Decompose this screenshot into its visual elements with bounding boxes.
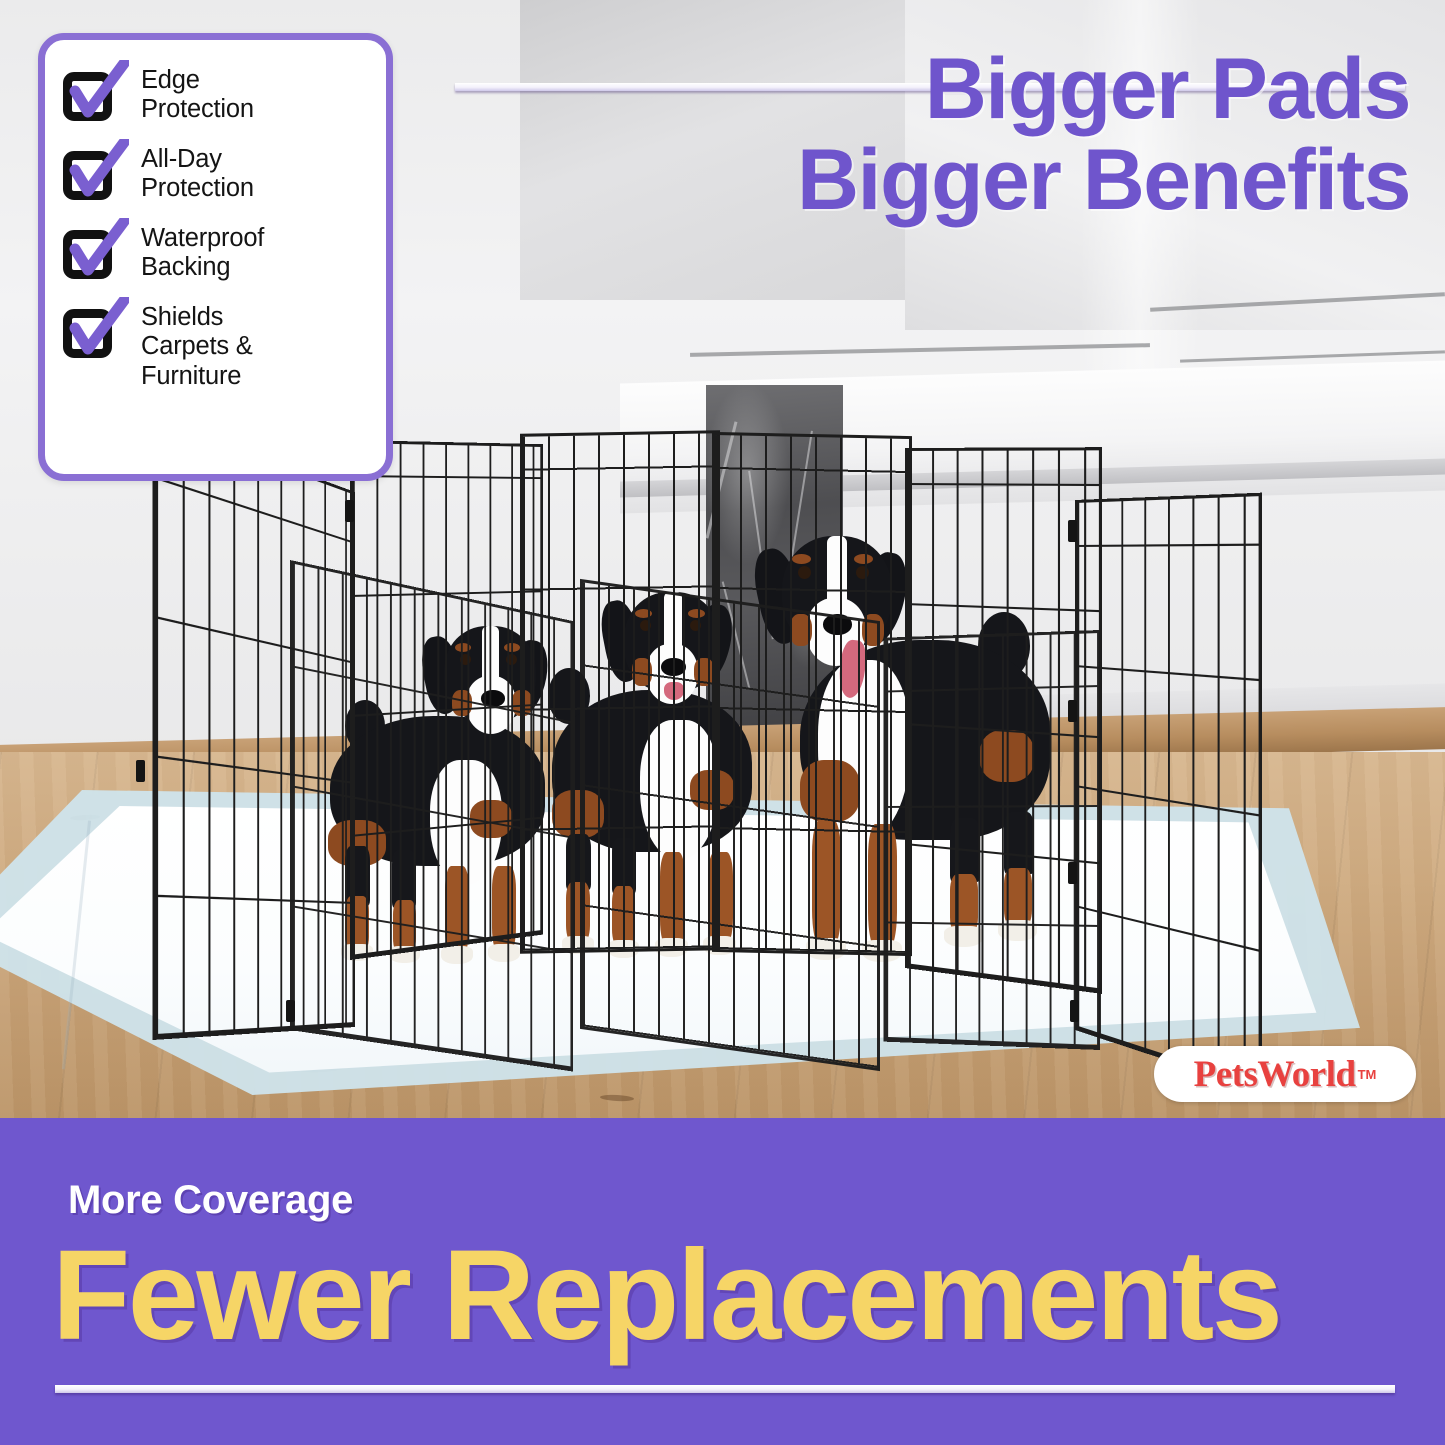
playpen-hinge — [286, 1000, 295, 1022]
check-mark-icon — [61, 218, 129, 280]
playpen-hinge — [1068, 520, 1077, 542]
feature-item-shields-carpets-furniture: Shields Carpets & Furniture — [59, 299, 370, 390]
banner-divider-bottom — [55, 1385, 1395, 1393]
feature-label: Waterproof Backing — [141, 220, 264, 282]
playpen-hinge — [1068, 862, 1077, 884]
logo-wordmark: PetsWorld — [1194, 1053, 1356, 1096]
playpen-panel — [580, 579, 880, 1071]
trademark-symbol: TM — [1358, 1067, 1377, 1082]
playpen-hinge — [1070, 1000, 1079, 1022]
playpen-hinge — [136, 760, 145, 782]
checkbox-checked-icon — [59, 62, 127, 124]
banner-eyebrow-row: More Coverage — [0, 1172, 1445, 1228]
banner-eyebrow: More Coverage — [68, 1178, 353, 1223]
feature-item-edge-protection: Edge Protection — [59, 62, 370, 124]
headline-line-2: Bigger Benefits — [430, 135, 1410, 226]
checkbox-checked-icon — [59, 299, 127, 361]
headline-line-1: Bigger Pads — [430, 44, 1410, 135]
petsworld-logo: PetsWorldTM — [1154, 1046, 1416, 1102]
playpen-panel — [290, 560, 573, 1072]
feature-list-card: Edge Protection All-Day Protection — [38, 33, 393, 481]
feature-item-all-day-protection: All-Day Protection — [59, 141, 370, 203]
headline: Bigger Pads Bigger Benefits — [430, 44, 1410, 226]
playpen-hinge — [1068, 700, 1077, 722]
feature-label: Shields Carpets & Furniture — [141, 299, 253, 390]
checkbox-checked-icon — [59, 141, 127, 203]
check-mark-icon — [61, 60, 129, 122]
checkbox-checked-icon — [59, 220, 127, 282]
playpen-hinge — [345, 500, 354, 522]
playpen-panel — [1075, 493, 1262, 1092]
check-mark-icon — [61, 139, 129, 201]
product-photo: Edge Protection All-Day Protection — [0, 0, 1445, 1120]
feature-label: Edge Protection — [141, 62, 254, 124]
playpen-panel — [884, 630, 1100, 1050]
product-marketing-image: Edge Protection All-Day Protection — [0, 0, 1445, 1445]
feature-label: All-Day Protection — [141, 141, 254, 203]
check-mark-icon — [61, 297, 129, 359]
feature-item-waterproof-backing: Waterproof Backing — [59, 220, 370, 282]
banner-headline: Fewer Replacements — [52, 1232, 1402, 1360]
